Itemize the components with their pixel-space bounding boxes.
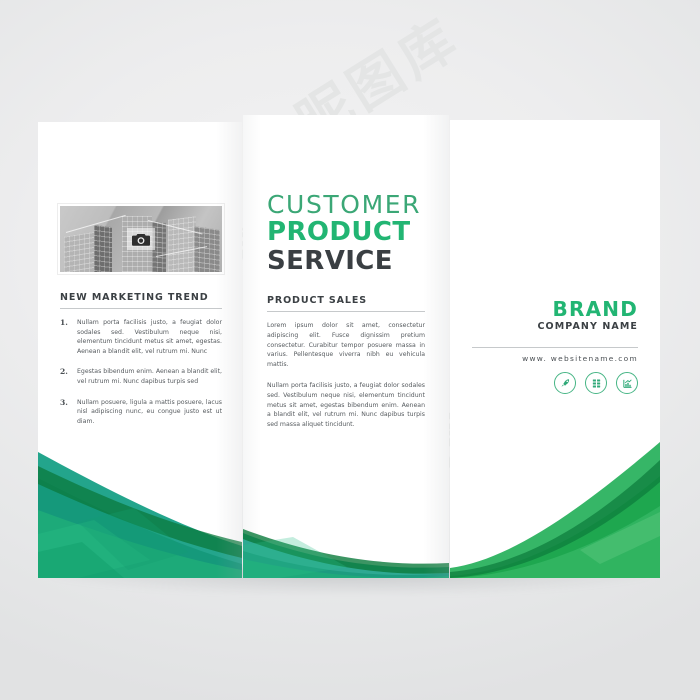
camera-icon bbox=[127, 228, 155, 250]
list-item: 3. Nullam posuere, ligula a mattis posue… bbox=[60, 398, 222, 427]
panel-left: NEW MARKETING TREND 1. Nullam porta faci… bbox=[38, 122, 242, 578]
city-skyline-photo-placeholder bbox=[60, 206, 222, 272]
brand-name: BRAND bbox=[537, 298, 638, 320]
divider bbox=[472, 347, 638, 348]
website-url[interactable]: www. websitename.com bbox=[522, 354, 638, 363]
paragraph: Lorem ipsum dolor sit amet, consectetur … bbox=[267, 321, 425, 370]
trifold-brochure: NEW MARKETING TREND 1. Nullam porta faci… bbox=[38, 112, 660, 578]
heading-product: PRODUCT bbox=[267, 218, 421, 247]
list-item-text: Nullam porta facilisis justo, a feugiat … bbox=[77, 318, 222, 356]
list-item-text: Nullam posuere, ligula a mattis posuere,… bbox=[77, 398, 222, 427]
divider bbox=[60, 308, 222, 309]
body-copy: Lorem ipsum dolor sit amet, consectetur … bbox=[267, 321, 425, 441]
list-item-number: 3. bbox=[60, 398, 68, 407]
bar-chart-icon[interactable] bbox=[616, 372, 638, 394]
list-item: 2. Egestas bibendum enim. Aenean a bland… bbox=[60, 367, 222, 386]
divider bbox=[267, 311, 425, 312]
list-item-text: Egestas bibendum enim. Aenean a blandit … bbox=[77, 367, 222, 386]
brand-block: BRAND COMPANY NAME bbox=[537, 298, 638, 334]
list-item-number: 1. bbox=[60, 318, 68, 327]
section-title-marketing: NEW MARKETING TREND bbox=[60, 292, 209, 303]
list-item: 1. Nullam porta facilisis justo, a feugi… bbox=[60, 318, 222, 356]
panel-center: CUSTOMER PRODUCT SERVICE PRODUCT SALES L… bbox=[243, 115, 449, 578]
company-name: COMPANY NAME bbox=[537, 320, 638, 334]
heading-customer: CUSTOMER bbox=[267, 191, 421, 218]
rocket-pen-icon[interactable] bbox=[554, 372, 576, 394]
server-stack-icon[interactable] bbox=[585, 372, 607, 394]
heading-service: SERVICE bbox=[267, 247, 421, 276]
section-title-product-sales: PRODUCT SALES bbox=[267, 295, 367, 306]
list-item-number: 2. bbox=[60, 367, 68, 376]
wave-graphic-right bbox=[450, 120, 660, 578]
paragraph: Nullam porta facilisis justo, a feugiat … bbox=[267, 381, 425, 430]
marketing-list: 1. Nullam porta facilisis justo, a feugi… bbox=[60, 318, 222, 437]
panel-right: BRAND COMPANY NAME www. websitename.com bbox=[450, 120, 660, 578]
service-icon-row bbox=[554, 372, 638, 394]
brochure-mockup-stage: 昵图库 昵图库 昵图库 bbox=[0, 0, 700, 700]
main-heading: CUSTOMER PRODUCT SERVICE bbox=[267, 191, 421, 276]
